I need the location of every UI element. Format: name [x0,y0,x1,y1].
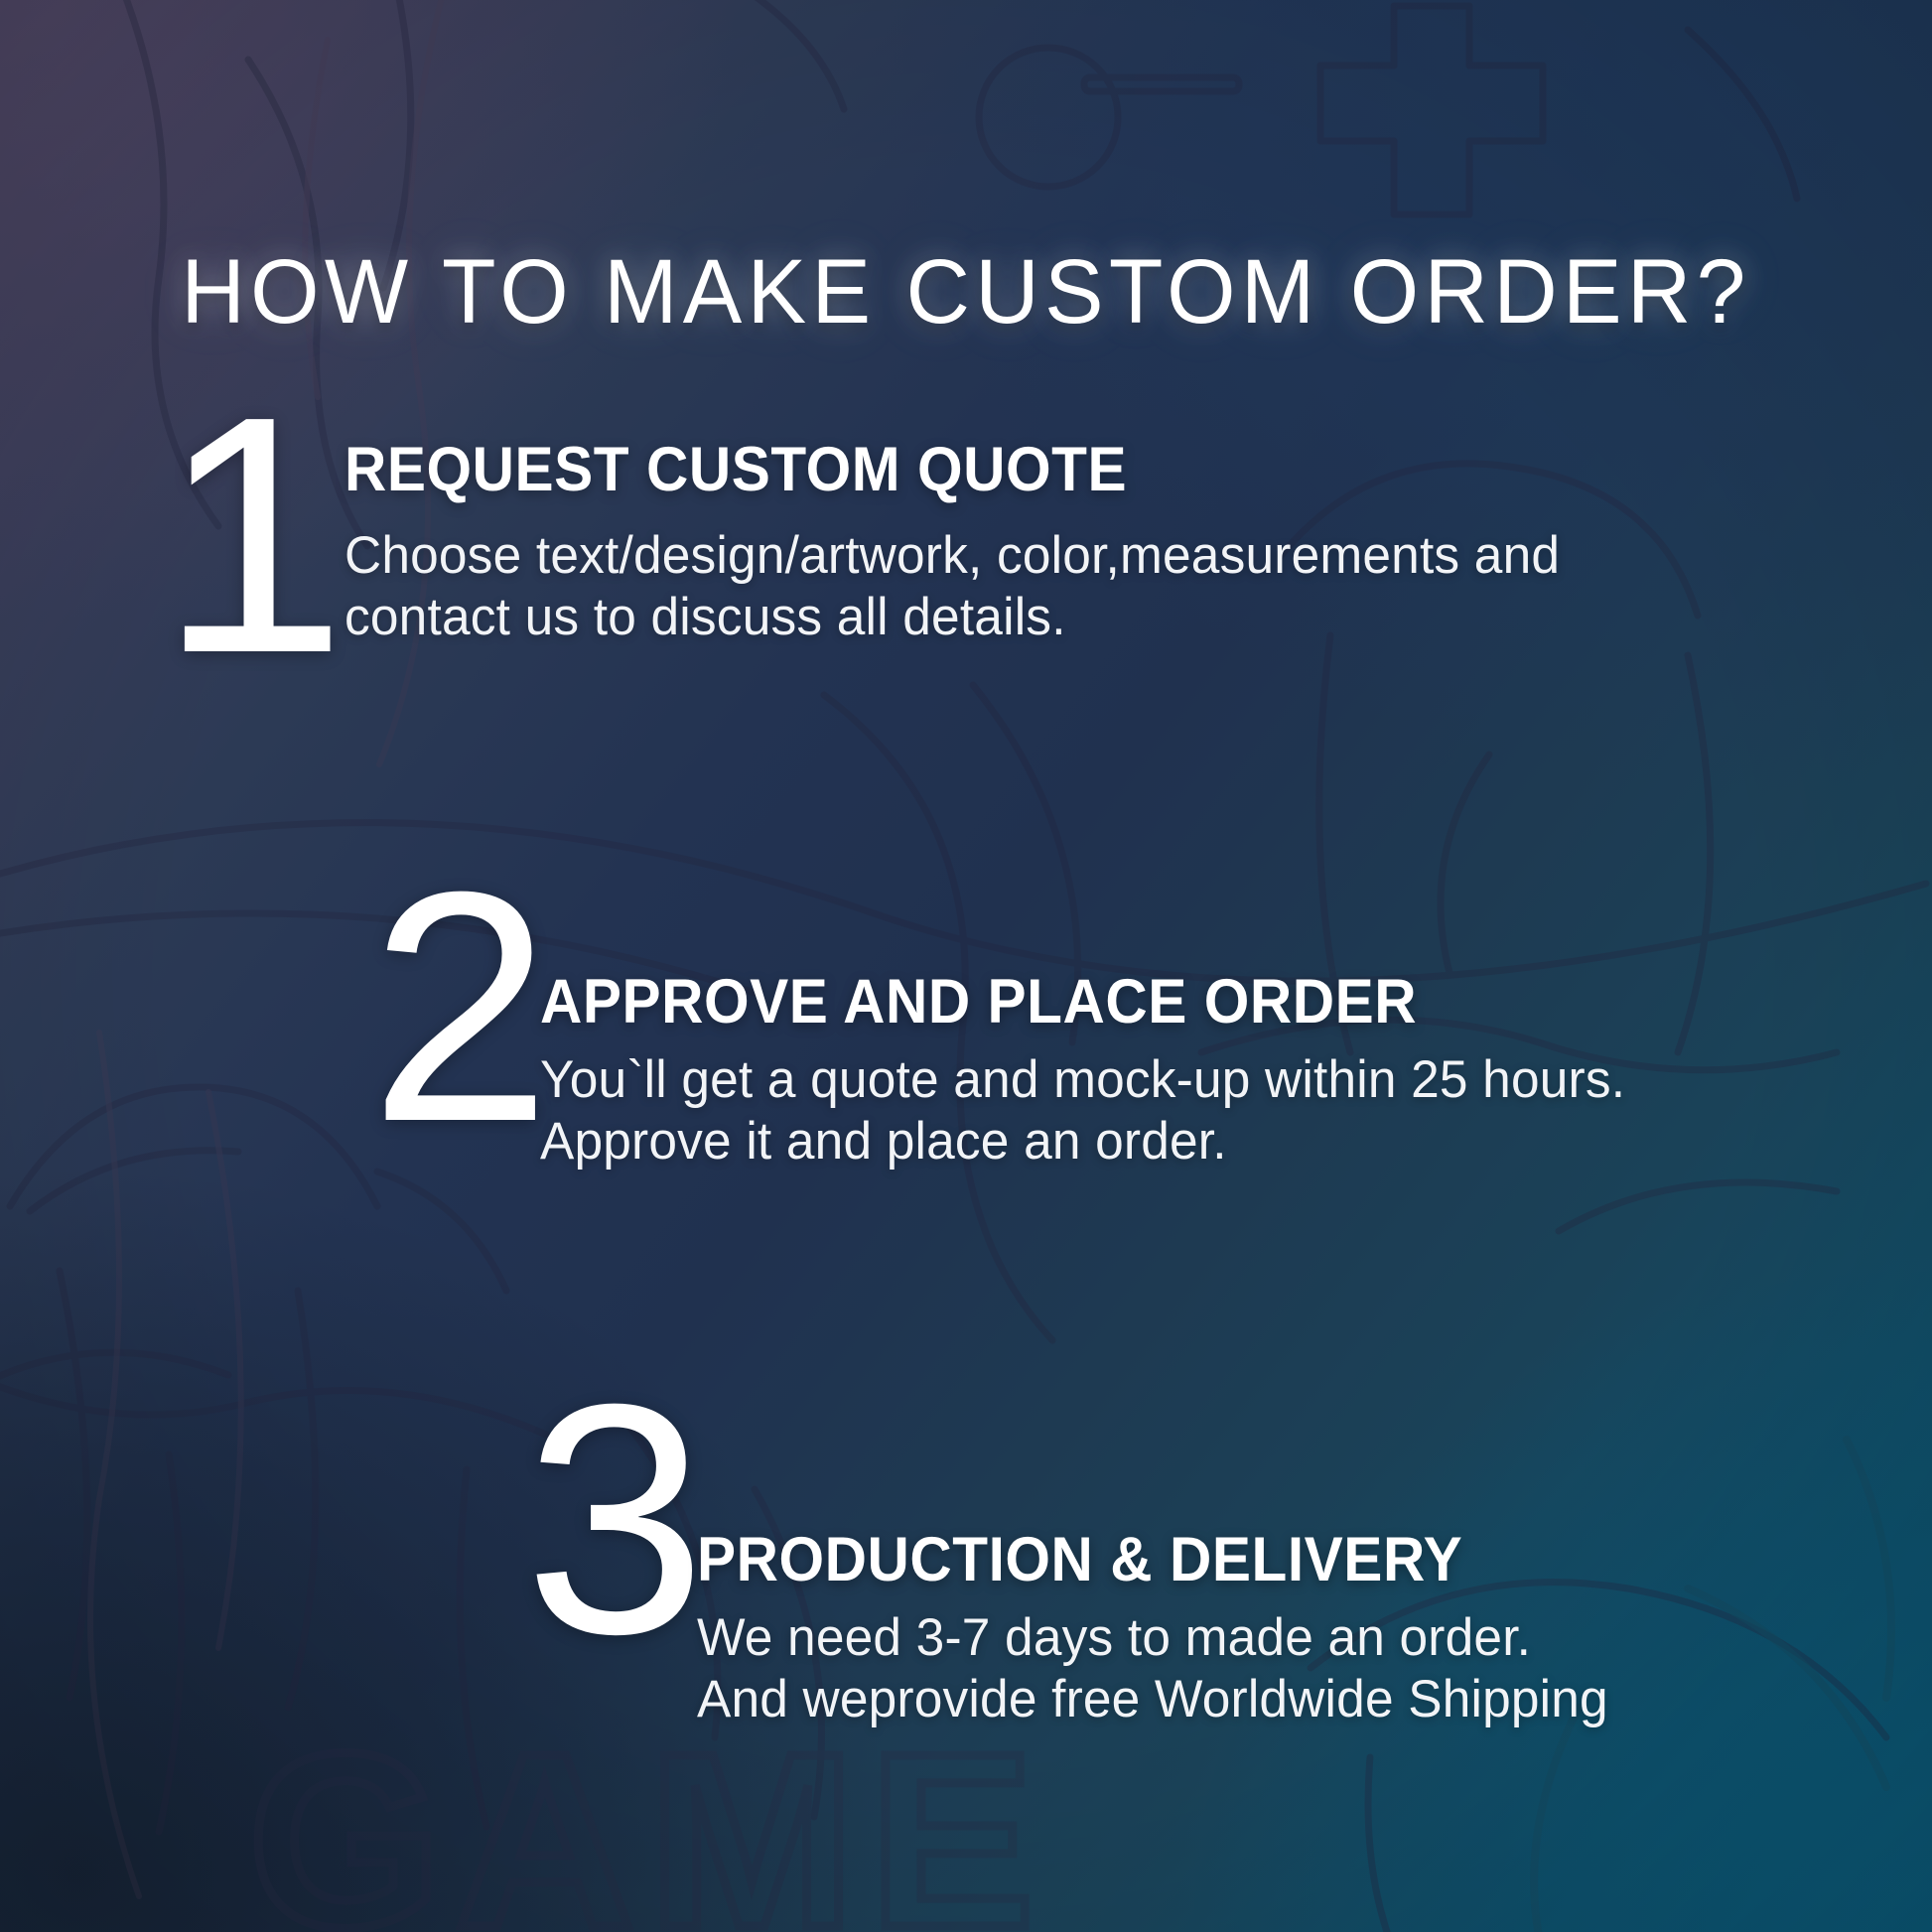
step-description-1: Choose text/design/artwork, color,measur… [345,525,1560,648]
step-description-2: You`ll get a quote and mock-up within 25… [540,1049,1625,1173]
poster-canvas: GAME HOW TO MAKE CUSTOM ORDER? 1 REQUEST… [0,0,1932,1932]
step-heading-2: APPROVE AND PLACE ORDER [540,971,1581,1034]
step-number-3: 3 [524,1398,701,1640]
step-content-3: PRODUCTION & DELIVERY We need 3-7 days t… [697,1404,1636,1730]
step-item-2: 2 APPROVE AND PLACE ORDER You`ll get a q… [369,892,1659,1173]
page-title: HOW TO MAKE CUSTOM ORDER? [29,246,1903,340]
step-description-2-line-2: Approve it and place an order. [540,1111,1625,1173]
step-description-2-line-1: You`ll get a quote and mock-up within 25… [540,1049,1625,1111]
step-number-2: 2 [369,886,546,1128]
step-description-1-line-2: contact us to discuss all details. [345,587,1560,648]
step-number-1: 1 [159,411,346,661]
step-heading-3: PRODUCTION & DELIVERY [697,1529,1571,1591]
step-description-3-line-2: And weprovide free Worldwide Shipping [697,1669,1608,1730]
step-description-3: We need 3-7 days to made an order. And w… [697,1607,1608,1730]
step-item-1: 1 REQUEST CUSTOM QUOTE Choose text/desig… [159,417,1597,667]
step-content-2: APPROVE AND PLACE ORDER You`ll get a quo… [540,892,1659,1173]
step-content-1: REQUEST CUSTOM QUOTE Choose text/design/… [345,417,1597,648]
step-item-3: 3 PRODUCTION & DELIVERY We need 3-7 days… [524,1404,1636,1730]
step-heading-1: REQUEST CUSTOM QUOTE [345,439,1510,501]
step-description-3-line-1: We need 3-7 days to made an order. [697,1607,1608,1669]
step-description-1-line-1: Choose text/design/artwork, color,measur… [345,525,1560,587]
